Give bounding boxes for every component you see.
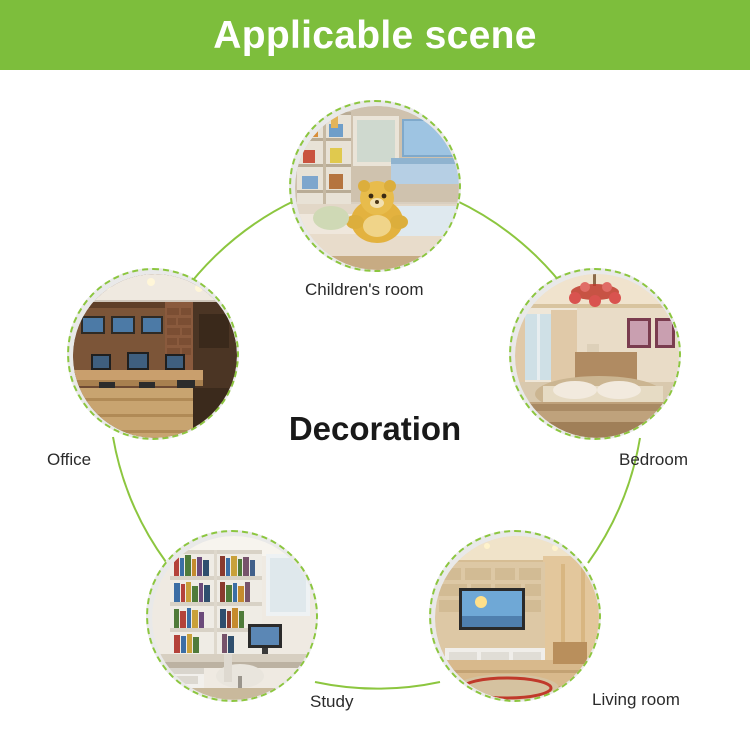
scene-diagram: Decoration [0,70,750,750]
node-office-circle [67,268,239,440]
node-study-label: Study [310,692,353,712]
node-bedroom[interactable]: Bedroom [509,268,681,440]
node-children-room-circle [289,100,461,272]
office-photo [73,274,237,438]
living-room-photo [435,536,599,700]
arc-livingroom-study [315,682,440,689]
node-study[interactable]: Study [146,530,318,702]
node-living-room[interactable]: Living room [429,530,601,702]
node-children-room-label: Children's room [305,280,424,300]
page-root: Applicable scene Decoration [0,0,750,750]
node-office[interactable]: Office [67,268,239,440]
node-bedroom-circle [509,268,681,440]
node-study-circle [146,530,318,702]
header-bar: Applicable scene [0,0,750,70]
node-bedroom-label: Bedroom [619,450,688,470]
node-living-room-label: Living room [592,690,680,710]
node-office-label: Office [47,450,91,470]
node-children-room[interactable]: Children's room [289,100,461,272]
study-photo [152,536,316,700]
page-title: Applicable scene [213,16,536,55]
node-living-room-circle [429,530,601,702]
bedroom-photo [515,274,679,438]
children-room-photo [295,106,459,270]
